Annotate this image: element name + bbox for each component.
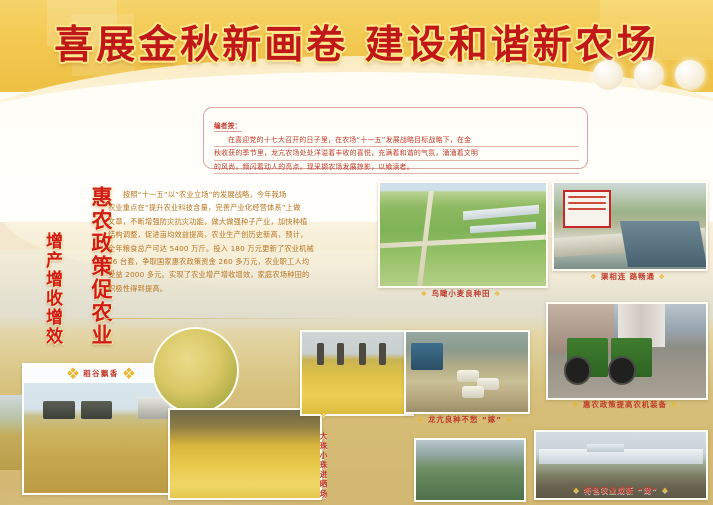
main-text-line-2: 农业重点在“提升农业科技含量，完善产业化经营体系”上做 <box>108 201 353 214</box>
editor-note-label: 编者按： <box>214 120 242 132</box>
photo-detail-truck <box>411 343 443 370</box>
gem-icon-top: ❖ <box>319 410 328 421</box>
editor-note-box: 编者按： 在喜迎党的十七大召开的日子里，在农场“十一五”发展战略目标战略下，在金… <box>203 107 588 169</box>
photo-detail-wheel-1 <box>564 356 592 384</box>
caption-text: 鸟瞰小麦良种田 <box>432 289 491 298</box>
main-text-line-6: 26 台套，争取国家惠农政策资金 260 多万元，农业职工人均 <box>108 255 353 268</box>
caption-text: 惠农政策提高农机装备 <box>583 400 667 409</box>
gem-icon-right: ❖ <box>506 416 513 424</box>
photo-detail-bag-3 <box>462 386 484 398</box>
gem-icon-right: ❖ <box>122 364 136 383</box>
photo-detail-canal-water <box>620 221 707 267</box>
main-text-line-8: 积极性得到提高。 <box>108 282 353 295</box>
caption-canal-and-road: ❖ 渠相连 路畅通 ❖ <box>552 271 704 282</box>
caption-text: 稻谷飘香 <box>80 368 122 379</box>
editor-note-line-3: 的风尚，频闪着动人的亮点。现采撷农场发展掠影，以飨读者。 <box>214 161 579 174</box>
gem-icon-right: ❖ <box>671 401 678 409</box>
gem-icon-right: ❖ <box>662 486 670 495</box>
photo-detail-person-1 <box>317 343 324 365</box>
photo-detail-road <box>417 191 434 286</box>
photo-detail-greenhouse-roof <box>587 444 624 452</box>
photo-detail-signboard <box>563 190 611 228</box>
gem-icon-left: ❖ <box>66 364 80 383</box>
photo-detail-person-2 <box>337 343 344 365</box>
photo-detail-building2 <box>470 222 536 234</box>
photo-green-field-bottom <box>414 438 526 502</box>
photo-greenhouses: ❖ 特色农业成新 “宠” ❖ <box>534 430 708 500</box>
vertical-headline-sub: 增产增收增效 <box>40 232 65 346</box>
gem-icon-left: ❖ <box>590 273 597 281</box>
photo-corn-pile <box>168 408 322 500</box>
photo-tractors-machinery <box>546 302 708 400</box>
photo-canal-and-road <box>552 181 708 271</box>
photo-detail-person-3 <box>359 343 366 365</box>
gem-icon-left: ❖ <box>572 401 579 409</box>
gem-icon-left: ❖ <box>421 290 428 298</box>
photo-aerial-wheat-field <box>378 181 548 288</box>
caption-aerial-wheat-field: ❖ 鸟瞰小麦良种田 ❖ <box>378 288 544 299</box>
poster-canvas: 喜展金秋新画卷 建设和谐新农场 编者按： 在喜迎党的十七大召开的日子里，在农场“… <box>0 0 713 505</box>
vertical-headline: 惠农政策促农业 增产增收增效 <box>40 186 116 336</box>
caption-drying-yard: ❖ 大珠小珠进晒场 ❖ <box>318 410 329 505</box>
photo-detail-building <box>463 204 539 220</box>
photo-rice-ears-closeup <box>152 327 239 414</box>
editor-note-line-1: 在喜迎党的十七大召开的日子里，在农场“十一五”发展战略目标战略下，在金 <box>214 134 579 147</box>
gem-icon-right: ❖ <box>494 290 501 298</box>
caption-text: 特色农业成新 “宠” <box>584 486 658 495</box>
main-text-line-7: 受益 2000 多元。实现了农业增产增收增效，家庭农场种田的 <box>108 268 353 281</box>
photo-detail-wheel-2 <box>608 356 636 384</box>
text-divider-rule <box>104 318 359 319</box>
photo-detail-combine-1 <box>43 401 75 419</box>
main-text-line-3: 文章，不断增强防灾抗灾功能，做大做强种子产业，加快种植 <box>108 215 353 228</box>
gem-icon-left: ❖ <box>417 416 424 424</box>
decor-circle-1 <box>593 60 623 90</box>
photo-detail-bag-1 <box>457 370 479 382</box>
caption-grain-bags-loading: ❖ 龙亢良种不愁 “嫁” ❖ <box>404 414 526 425</box>
decor-circle-2 <box>634 60 664 90</box>
photo-grain-bags-loading <box>404 330 530 414</box>
caption-text: 渠相连 路畅通 <box>601 272 655 281</box>
main-article-text: 按照“十一五”以“农业立场”的发展战略，今年我场 农业重点在“提升农业科技含量，… <box>108 188 353 308</box>
gem-icon-left: ❖ <box>573 486 581 495</box>
editor-note-line-2: 秋收获的季节里，龙亢农场处处洋溢着丰收的喜悦，充满着和谐的气氛，涌涌着文明 <box>214 147 579 160</box>
photo-drying-yard <box>300 330 414 416</box>
main-text-line-4: 结构调整，促进亩均效益提高，农业生产创历史新高，预计， <box>108 228 353 241</box>
editor-note-body: 在喜迎党的十七大召开的日子里，在农场“十一五”发展战略目标战略下，在金 秋收获的… <box>214 134 579 174</box>
main-text-line-1: 按照“十一五”以“农业立场”的发展战略，今年我场 <box>108 188 353 201</box>
photo-edge-strip <box>0 395 22 470</box>
caption-tractors-machinery: ❖ 惠农政策提高农机装备 ❖ <box>546 399 704 410</box>
photo-detail-combine-2 <box>81 401 113 419</box>
caption-text: 龙亢良种不愁 “嫁” <box>428 415 502 424</box>
caption-text: 大珠小珠进晒场 <box>319 432 328 499</box>
photo-detail-road2 <box>380 234 546 248</box>
decor-circle-3 <box>675 60 705 90</box>
header-dot-decoration <box>593 60 705 100</box>
gem-icon-right: ❖ <box>659 273 666 281</box>
main-text-line-5: 全年粮食总产可达 5400 万斤。投入 180 万元更新了农业机械 <box>108 242 353 255</box>
caption-greenhouses: ❖ 特色农业成新 “宠” ❖ <box>536 483 706 498</box>
photo-detail-person-4 <box>379 343 386 365</box>
